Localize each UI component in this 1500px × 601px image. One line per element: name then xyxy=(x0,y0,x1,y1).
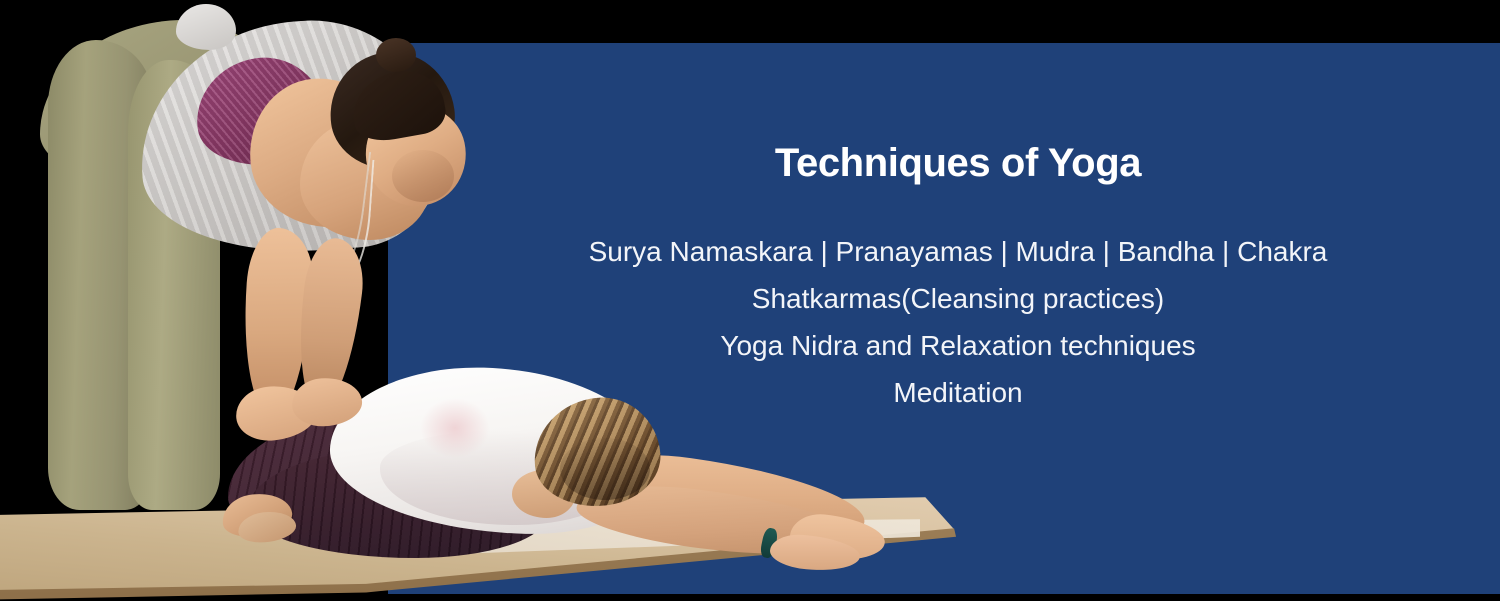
yoga-banner: Techniques of Yoga Surya Namaskara | Pra… xyxy=(0,0,1500,601)
page-title: Techniques of Yoga xyxy=(458,140,1458,186)
technique-line-3: Yoga Nidra and Relaxation techniques xyxy=(458,322,1458,369)
technique-line-2: Shatkarmas(Cleansing practices) xyxy=(458,275,1458,322)
student-hair-shading xyxy=(560,438,650,500)
technique-line-4: Meditation xyxy=(458,369,1458,416)
banner-text-block: Techniques of Yoga Surya Namaskara | Pra… xyxy=(458,140,1458,416)
instructor-hair-bun xyxy=(376,38,416,72)
instructor-face-shading xyxy=(392,150,454,202)
instructor-shirt-knot xyxy=(176,4,236,50)
technique-line-1: Surya Namaskara | Pranayamas | Mudra | B… xyxy=(458,228,1458,275)
